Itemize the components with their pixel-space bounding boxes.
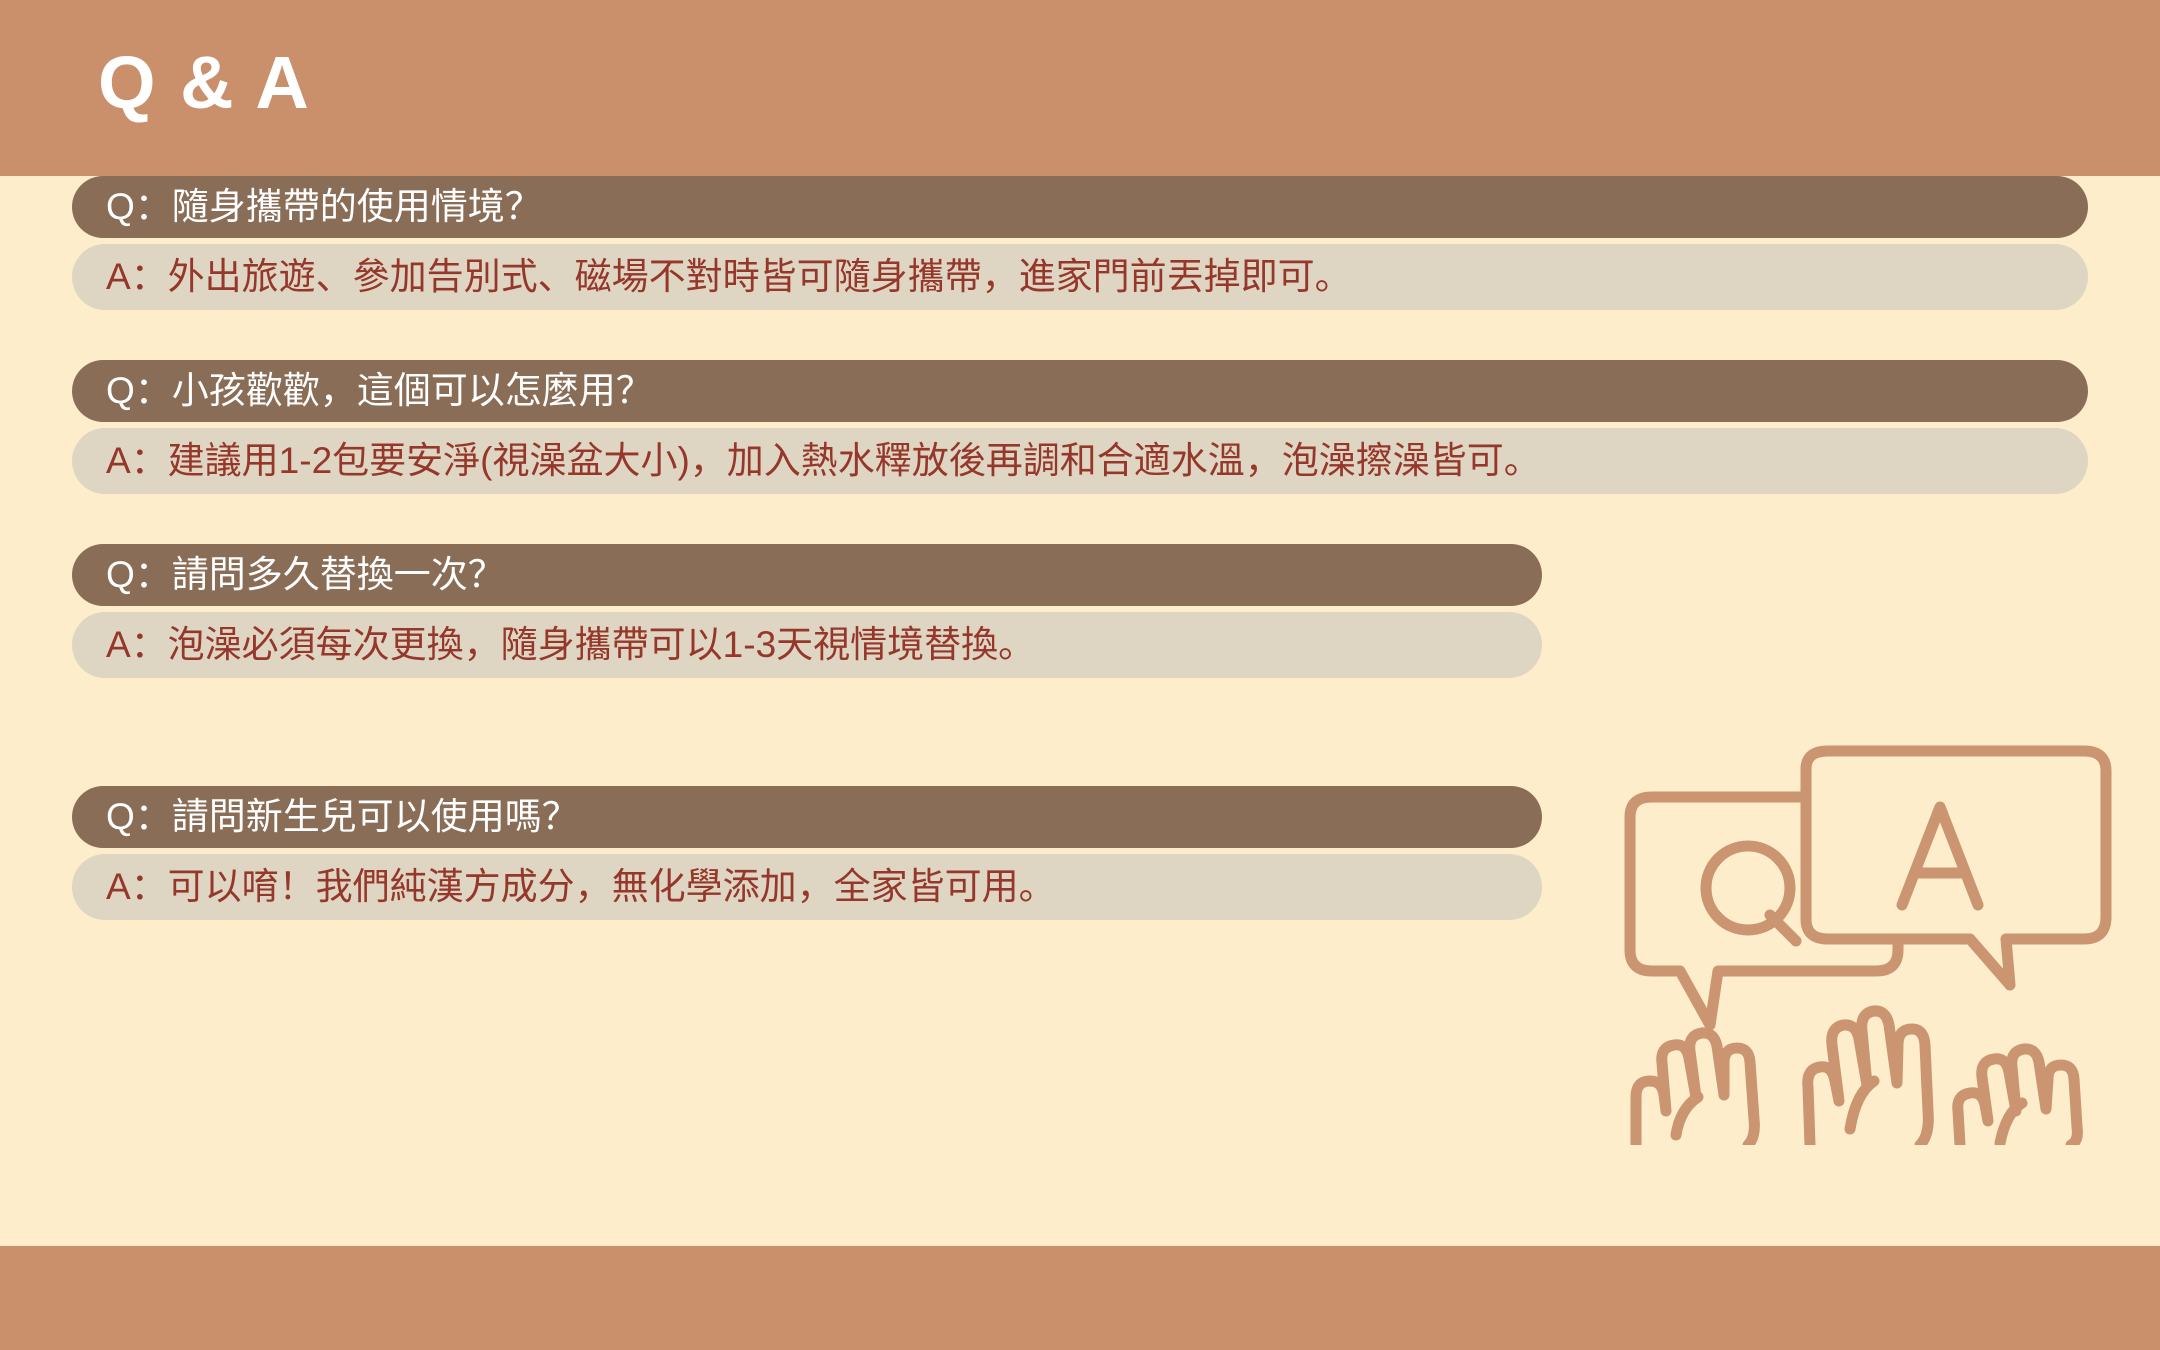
raised-hands-icon (1636, 1011, 2077, 1145)
footer-bar (0, 1246, 2160, 1350)
qa-block: Q：隨身攜帶的使用情境？ A：外出旅遊、參加告別式、磁場不對時皆可隨身攜帶，進家… (72, 176, 2088, 310)
answer-text: A：建議用1-2包要安淨(視澡盆大小)，加入熱水釋放後再調和合適水溫，泡澡擦澡皆… (106, 428, 1541, 494)
qa-block: Q：小孩歡歡，這個可以怎麼用？ A：建議用1-2包要安淨(視澡盆大小)，加入熱水… (72, 360, 2088, 494)
question-text: Q：請問新生兒可以使用嗎？ (106, 786, 579, 848)
question-pill[interactable]: Q：小孩歡歡，這個可以怎麼用？ (72, 360, 2088, 422)
answer-text: A：可以唷！我們純漢方成分，無化學添加，全家皆可用。 (106, 854, 1056, 920)
question-pill[interactable]: Q：隨身攜帶的使用情境？ (72, 176, 2088, 238)
speech-bubble-a-icon (1806, 751, 2106, 985)
question-pill[interactable]: Q：請問多久替換一次？ (72, 544, 1542, 606)
answer-pill: A：建議用1-2包要安淨(視澡盆大小)，加入熱水釋放後再調和合適水溫，泡澡擦澡皆… (72, 428, 2088, 494)
answer-pill: A：外出旅遊、參加告別式、磁場不對時皆可隨身攜帶，進家門前丟掉即可。 (72, 244, 2088, 310)
qa-block: Q：請問多久替換一次？ A：泡澡必須每次更換，隨身攜帶可以1-3天視情境替換。 (72, 544, 1542, 678)
qa-illustration (1618, 745, 2118, 1145)
question-text: Q：隨身攜帶的使用情境？ (106, 176, 542, 238)
question-text: Q：請問多久替換一次？ (106, 544, 505, 606)
header-bar (0, 0, 2160, 176)
answer-text: A：外出旅遊、參加告別式、磁場不對時皆可隨身攜帶，進家門前丟掉即可。 (106, 244, 1352, 310)
question-text: Q：小孩歡歡，這個可以怎麼用？ (106, 360, 653, 422)
answer-pill: A：泡澡必須每次更換，隨身攜帶可以1-3天視情境替換。 (72, 612, 1542, 678)
qa-slide: Q & A Q：隨身攜帶的使用情境？ A：外出旅遊、參加告別式、磁場不對時皆可隨… (0, 0, 2160, 1350)
answer-text: A：泡澡必須每次更換，隨身攜帶可以1-3天視情境替換。 (106, 612, 1035, 678)
qa-block: Q：請問新生兒可以使用嗎？ A：可以唷！我們純漢方成分，無化學添加，全家皆可用。 (72, 786, 1542, 920)
question-pill[interactable]: Q：請問新生兒可以使用嗎？ (72, 786, 1542, 848)
page-title: Q & A (98, 28, 311, 138)
answer-pill: A：可以唷！我們純漢方成分，無化學添加，全家皆可用。 (72, 854, 1542, 920)
